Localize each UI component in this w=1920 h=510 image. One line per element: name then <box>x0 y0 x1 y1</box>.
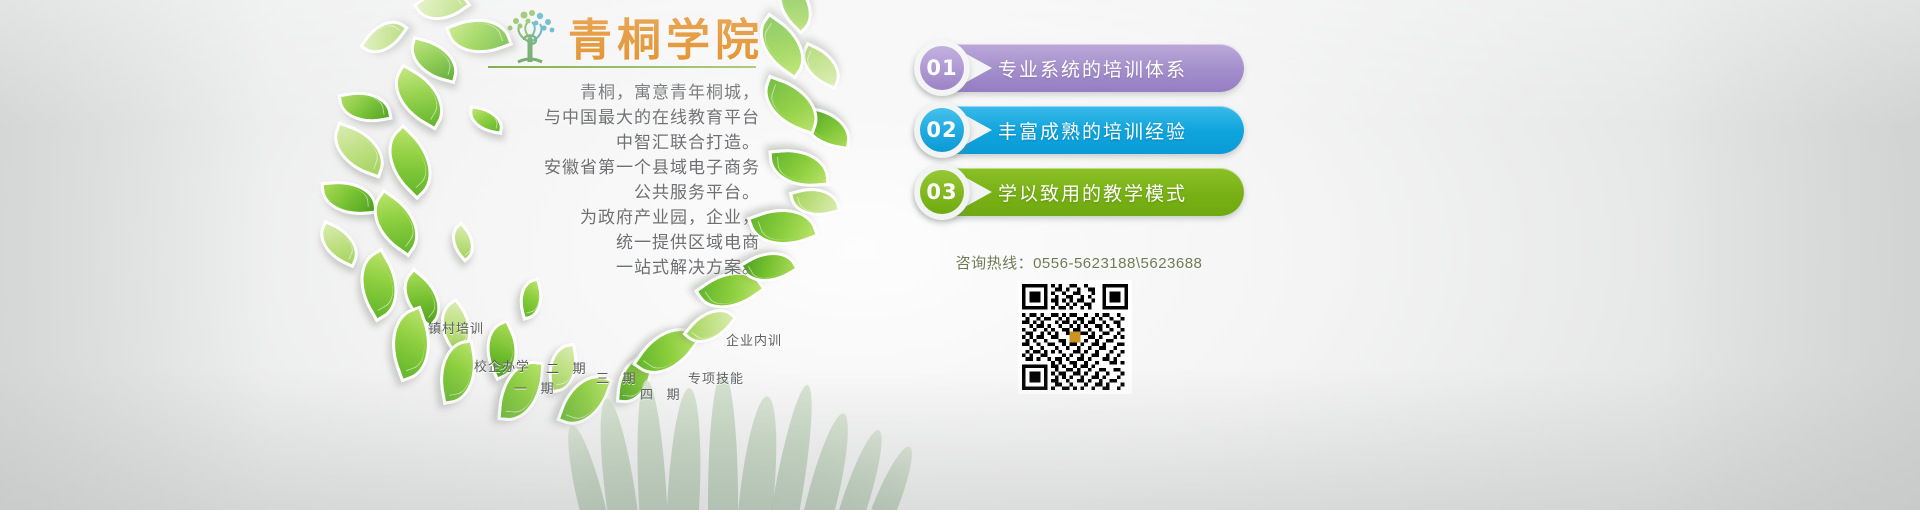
promo-banner: 青桐学院 青桐，寓意青年桐城， 与中国最大的在线教育平台 中智汇联合打造。 安徽… <box>0 0 1920 510</box>
course-label-qiye[interactable]: 企业内训 <box>726 330 782 349</box>
phase-label-3[interactable]: 三 期 <box>596 368 641 387</box>
phase-label-1[interactable]: 一 期 <box>514 378 559 397</box>
brand-title: 青桐学院 <box>568 4 764 68</box>
hotline-text: 咨询热线：0556-5623188\5623688 <box>914 252 1244 273</box>
feature-badge-01[interactable]: 01 专业系统的培训体系 <box>914 44 1244 92</box>
badge-label: 丰富成熟的培训经验 <box>998 106 1228 154</box>
feature-badge-list: 01 专业系统的培训体系 02 丰富成熟的培训经验 03 学以致用的教学模式 <box>914 44 1244 230</box>
feature-badge-02[interactable]: 02 丰富成熟的培训经验 <box>914 106 1244 154</box>
course-label-zhencun[interactable]: 镇村培训 <box>428 318 484 337</box>
description-line: 安徽省第一个县域电子商务 <box>440 155 760 180</box>
phase-label-4[interactable]: 四 期 <box>640 384 685 403</box>
description-line: 青桐，寓意青年桐城， <box>440 80 760 105</box>
qr-code[interactable] <box>1018 280 1132 394</box>
brand-description: 青桐，寓意青年桐城， 与中国最大的在线教育平台 中智汇联合打造。 安徽省第一个县… <box>440 80 760 280</box>
course-label-xiaoqi[interactable]: 校企办学 <box>474 356 530 375</box>
description-line: 中智汇联合打造。 <box>440 130 760 155</box>
grass-decoration <box>560 366 960 510</box>
description-line: 公共服务平台。 <box>440 180 760 205</box>
badge-number: 03 <box>920 170 964 214</box>
badge-label: 学以致用的教学模式 <box>998 168 1228 216</box>
badge-number: 02 <box>920 108 964 152</box>
brand-logo[interactable]: 青桐学院 <box>488 2 758 74</box>
course-label-zhuanxiang[interactable]: 专项技能 <box>688 368 744 387</box>
feature-badge-03[interactable]: 03 学以致用的教学模式 <box>914 168 1244 216</box>
description-line: 一站式解决方案。 <box>440 255 760 280</box>
phase-label-2[interactable]: 二 期 <box>546 358 591 377</box>
description-line: 统一提供区域电商 <box>440 230 760 255</box>
tree-icon <box>494 4 566 66</box>
description-line: 与中国最大的在线教育平台 <box>440 105 760 130</box>
description-line: 为政府产业园，企业， <box>440 205 760 230</box>
badge-number: 01 <box>920 46 964 90</box>
badge-label: 专业系统的培训体系 <box>998 44 1228 92</box>
logo-divider <box>488 66 756 68</box>
